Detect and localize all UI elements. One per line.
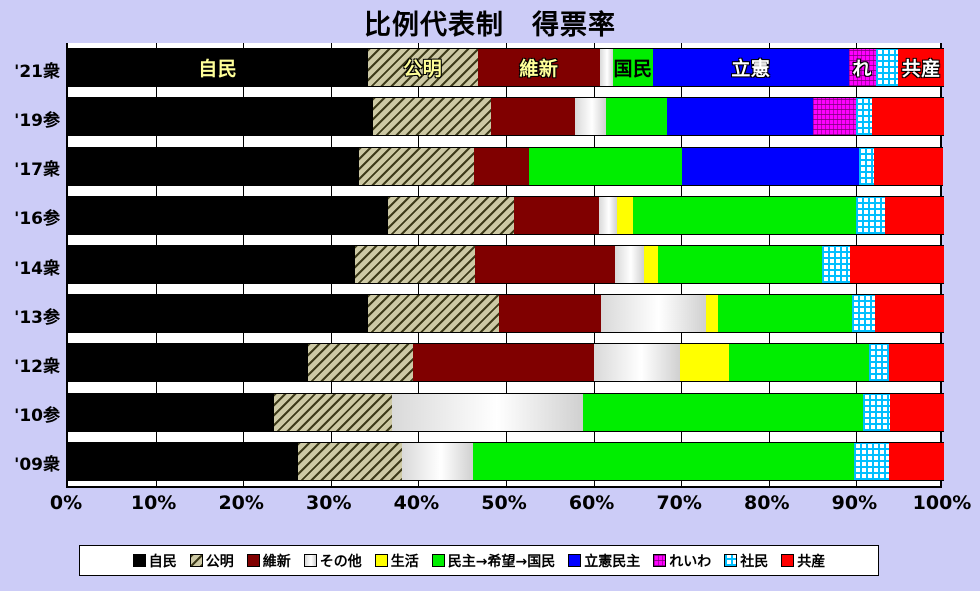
- legend-item-ishin[interactable]: 維新: [247, 551, 291, 571]
- legend-swatch-ishin: [247, 554, 260, 567]
- legend-swatch-rikken: [568, 554, 581, 567]
- x-axis-tick-label: 20%: [206, 492, 276, 514]
- bar-segment-jimin: 自民: [68, 48, 368, 87]
- y-axis-label: '14衆: [0, 254, 60, 279]
- legend-label: 公明: [206, 551, 234, 571]
- legend-swatch-minshu: [432, 554, 445, 567]
- bar-segment-kyosan: [850, 245, 944, 284]
- x-axis-labels: 0%10%20%30%40%50%60%70%80%90%100%: [0, 492, 980, 518]
- bar-row: [68, 393, 940, 432]
- x-axis-tick-label: 100%: [907, 492, 977, 514]
- bar-segment-reiwa: [813, 97, 857, 136]
- bar-segment-komei: [298, 442, 401, 481]
- bar-segment-ishin: [514, 196, 599, 235]
- bar-segment-ishin: [475, 245, 614, 284]
- legend-swatch-shamin: [724, 554, 737, 567]
- legend-item-minshu[interactable]: 民主→希望→国民: [432, 551, 555, 571]
- y-axis-label: '16参: [0, 204, 60, 229]
- bar-segment-rikken: [682, 147, 859, 186]
- x-axis-tick-label: 0%: [31, 492, 101, 514]
- legend-swatch-kyosan: [781, 554, 794, 567]
- y-axis-label: '12衆: [0, 352, 60, 377]
- x-axis-tick-label: 10%: [119, 492, 189, 514]
- legend-label: 社民: [740, 551, 768, 571]
- x-axis-tick-label: 90%: [819, 492, 889, 514]
- legend-swatch-sonota: [304, 554, 317, 567]
- bar-segment-label: 立憲: [731, 54, 770, 81]
- bar-segment-jimin: [68, 196, 388, 235]
- bar-segment-komei: [274, 393, 392, 432]
- bar-segment-shamin: [863, 393, 889, 432]
- bar-segment-kyosan: [889, 343, 944, 382]
- bar-segment-kyosan: [885, 196, 944, 235]
- legend-label: 民主→希望→国民: [448, 551, 555, 571]
- bar-segment-sonota: [600, 48, 613, 87]
- bar-segment-shamin: [822, 245, 850, 284]
- legend-swatch-seikatsu: [375, 554, 388, 567]
- legend-item-jimin[interactable]: 自民: [133, 551, 177, 571]
- bar-segment-minshu: [606, 97, 667, 136]
- bar-segment-komei: [388, 196, 514, 235]
- bar-segment-shamin: [859, 147, 874, 186]
- x-axis-line: [66, 486, 942, 488]
- y-axis-label: '10参: [0, 401, 60, 426]
- bar-segment-label: れ: [852, 54, 872, 81]
- bar-segment-minshu: [718, 294, 852, 333]
- bar-segment-sonota: [601, 294, 705, 333]
- bar-segment-jimin: [68, 147, 359, 186]
- bar-segment-sonota: [599, 196, 617, 235]
- bar-segment-minshu: [473, 442, 854, 481]
- bar-segment-komei: [359, 147, 474, 186]
- legend-item-reiwa[interactable]: れいわ: [653, 551, 711, 571]
- bar-row: [68, 442, 940, 481]
- legend-label: れいわ: [669, 551, 711, 571]
- bar-segment-seikatsu: [680, 343, 729, 382]
- legend-item-rikken[interactable]: 立憲民主: [568, 551, 640, 571]
- bar-segment-label: 国民: [613, 54, 652, 81]
- bar-segment-shamin: [856, 196, 886, 235]
- x-axis-tick-label: 40%: [381, 492, 451, 514]
- bar-segment-sonota: [402, 442, 473, 481]
- bar-segment-komei: [368, 294, 499, 333]
- plot-area: 自民公明維新国民立憲れ共産: [66, 43, 942, 486]
- bar-segment-shamin: [869, 343, 889, 382]
- bar-segment-shamin: [856, 97, 872, 136]
- bar-segment-kyosan: [890, 393, 944, 432]
- x-axis-tick-label: 80%: [732, 492, 802, 514]
- bar-segment-shamin: [854, 442, 889, 481]
- legend-label: 維新: [263, 551, 291, 571]
- bar-segment-komei: 公明: [368, 48, 478, 87]
- legend-item-komei[interactable]: 公明: [190, 551, 234, 571]
- bar-segment-minshu: [529, 147, 682, 186]
- bar-segment-minshu: [658, 245, 823, 284]
- legend-label: 自民: [149, 551, 177, 571]
- bar-segment-jimin: [68, 294, 368, 333]
- bar-segment-kyosan: 共産: [898, 48, 944, 87]
- bar-row: [68, 196, 940, 235]
- legend-label: その他: [320, 551, 362, 571]
- bar-segment-sonota: [392, 393, 583, 432]
- bar-segment-shamin: [876, 48, 899, 87]
- legend-item-sonota[interactable]: その他: [304, 551, 362, 571]
- bar-segment-reiwa: れ: [849, 48, 876, 87]
- bar-row: [68, 294, 940, 333]
- bar-segment-rikken: 立憲: [653, 48, 848, 87]
- x-axis-tick-label: 70%: [644, 492, 714, 514]
- y-axis-label: '13参: [0, 303, 60, 328]
- bar-row: [68, 97, 940, 136]
- bar-segment-ishin: [499, 294, 601, 333]
- legend-label: 立憲民主: [584, 551, 640, 571]
- bar-segment-sonota: [594, 343, 681, 382]
- bar-segment-seikatsu: [644, 245, 657, 284]
- legend-swatch-komei: [190, 554, 203, 567]
- bar-segment-kyosan: [875, 294, 944, 333]
- y-axis-label: '21衆: [0, 57, 60, 82]
- legend-item-kyosan[interactable]: 共産: [781, 551, 825, 571]
- bar-segment-jimin: [68, 393, 274, 432]
- bar-segment-minshu: 国民: [613, 48, 653, 87]
- x-axis-tick-label: 60%: [557, 492, 627, 514]
- chart-legend: 自民公明維新その他生活民主→希望→国民立憲民主れいわ社民共産: [79, 545, 879, 576]
- bar-segment-seikatsu: [706, 294, 718, 333]
- bar-segment-komei: [308, 343, 413, 382]
- bar-segment-jimin: [68, 442, 298, 481]
- chart-title: 比例代表制 得票率: [0, 3, 980, 42]
- bar-row: [68, 147, 940, 186]
- bar-row: [68, 343, 940, 382]
- bar-segment-label: 自民: [198, 54, 237, 81]
- bar-segment-jimin: [68, 245, 355, 284]
- bar-row: [68, 245, 940, 284]
- bar-segment-komei: [355, 245, 475, 284]
- legend-swatch-reiwa: [653, 554, 666, 567]
- bar-segment-kyosan: [874, 147, 943, 186]
- bar-segment-ishin: [413, 343, 593, 382]
- x-axis-tick-label: 50%: [469, 492, 539, 514]
- bar-segment-jimin: [68, 97, 373, 136]
- bar-segment-rikken: [667, 97, 812, 136]
- legend-label: 生活: [391, 551, 419, 571]
- y-axis-label: '09衆: [0, 450, 60, 475]
- x-axis-tick-label: 30%: [294, 492, 364, 514]
- bar-segment-minshu: [583, 393, 863, 432]
- legend-item-seikatsu[interactable]: 生活: [375, 551, 419, 571]
- legend-item-shamin[interactable]: 社民: [724, 551, 768, 571]
- bar-segment-kyosan: [872, 97, 944, 136]
- bar-segment-sonota: [575, 97, 606, 136]
- bar-segment-minshu: [633, 196, 856, 235]
- bar-segment-label: 維新: [519, 54, 558, 81]
- bar-segment-shamin: [852, 294, 875, 333]
- bar-segment-sonota: [615, 245, 645, 284]
- bar-segment-ishin: [491, 97, 575, 136]
- legend-swatch-jimin: [133, 554, 146, 567]
- bar-segment-minshu: [729, 343, 868, 382]
- legend-label: 共産: [797, 551, 825, 571]
- bar-segment-kyosan: [889, 442, 944, 481]
- bar-segment-ishin: [474, 147, 529, 186]
- bar-segment-komei: [373, 97, 491, 136]
- bar-segment-label: 共産: [902, 54, 941, 81]
- bar-segment-jimin: [68, 343, 308, 382]
- bar-segment-ishin: 維新: [478, 48, 600, 87]
- bar-segment-label: 公明: [403, 54, 442, 81]
- y-axis-label: '17衆: [0, 155, 60, 180]
- bar-row: 自民公明維新国民立憲れ共産: [68, 48, 940, 87]
- bar-segment-seikatsu: [617, 196, 633, 235]
- y-axis-label: '19参: [0, 106, 60, 131]
